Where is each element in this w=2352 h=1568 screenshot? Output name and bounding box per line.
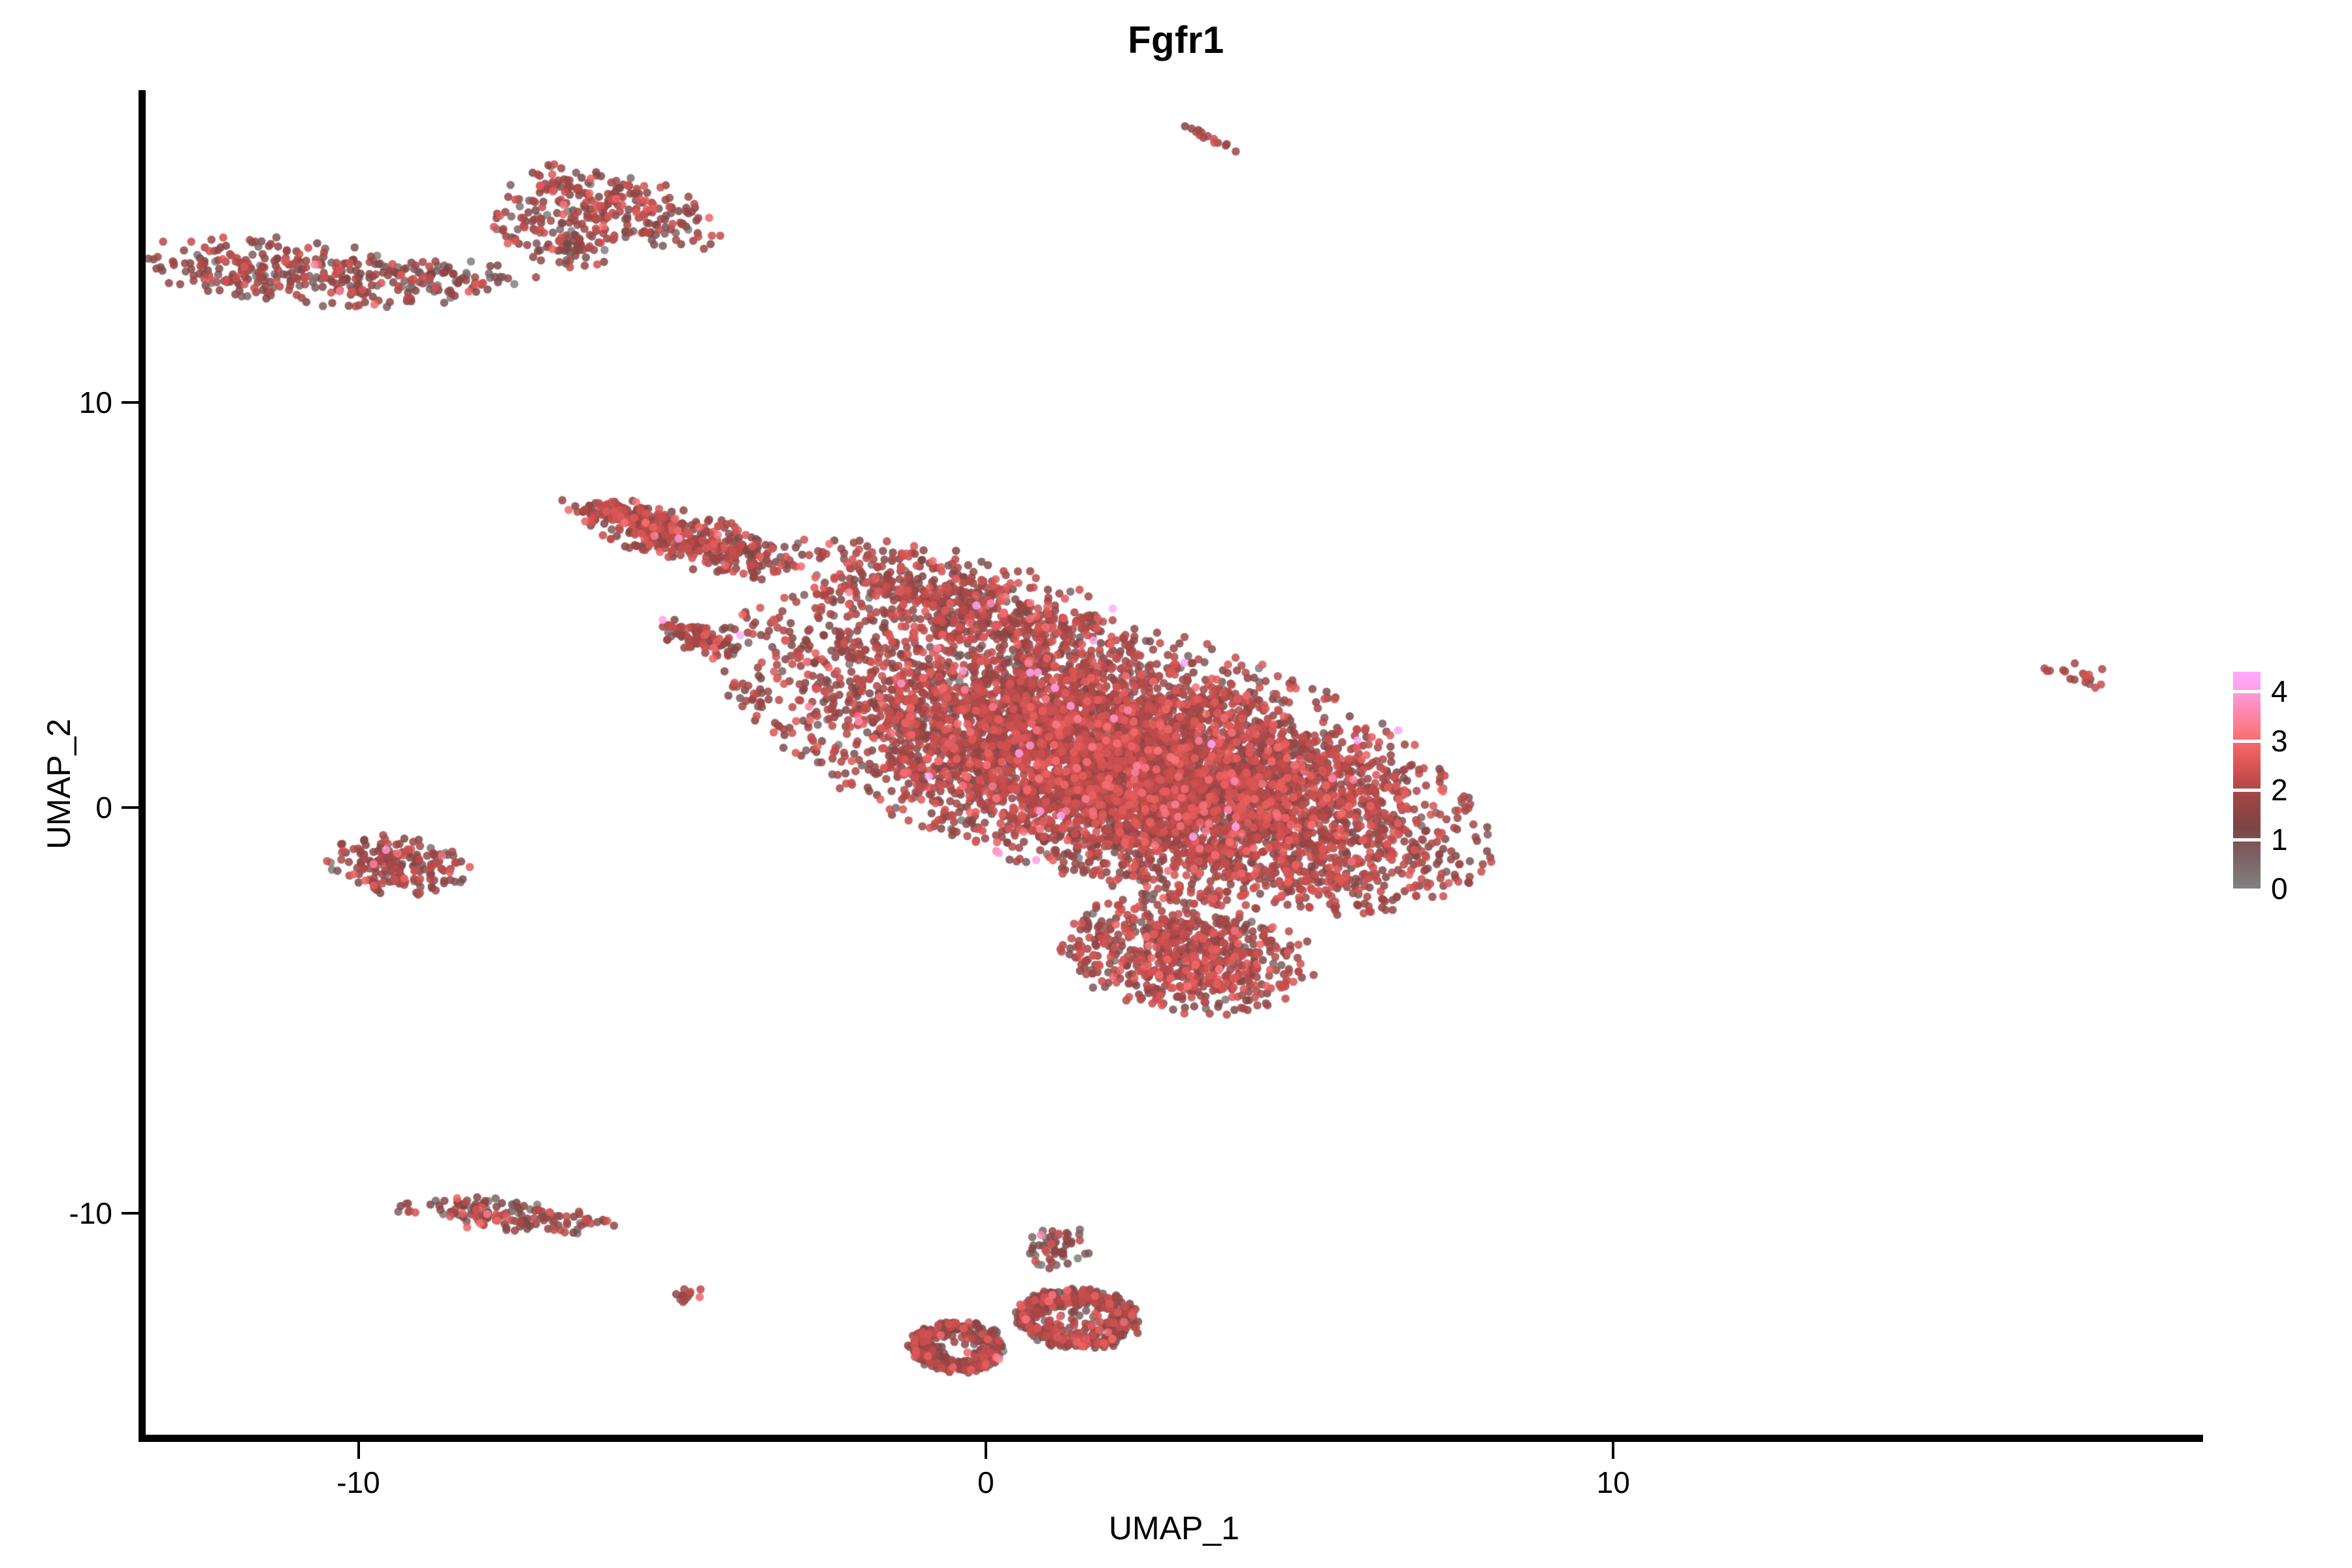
page-title: Fgfr1 [0, 18, 2352, 62]
y-tick-mark [122, 806, 139, 809]
colorbar-tick-label: 1 [2271, 822, 2288, 857]
y-tick-mark [122, 1212, 139, 1215]
x-tick-mark [357, 1442, 360, 1459]
scatter-plot-canvas [145, 90, 2203, 1440]
x-tick-label: 0 [977, 1465, 994, 1500]
x-tick-label: -10 [336, 1465, 380, 1500]
x-axis-line [139, 1435, 2203, 1442]
y-tick-label: -10 [69, 1196, 112, 1231]
y-tick-mark [122, 401, 139, 404]
colorbar-tick-label: 2 [2271, 772, 2288, 808]
x-tick-label: 10 [1597, 1465, 1630, 1500]
colorbar-tick-label: 3 [2271, 723, 2288, 759]
colorbar-tick-label: 4 [2271, 674, 2288, 709]
x-axis-label: UMAP_1 [145, 1509, 2203, 1547]
y-tick-label: 0 [95, 790, 112, 825]
colorbar-tick-mark [2233, 838, 2261, 841]
colorbar-tick-mark [2233, 740, 2261, 743]
y-axis-label: UMAP_2 [40, 653, 78, 915]
y-axis-line [139, 90, 146, 1441]
x-tick-mark [985, 1442, 987, 1459]
feature-plot-figure: Fgfr1 -10010 100-10 UMAP_1 UMAP_2 43210 [0, 0, 2352, 1568]
colorbar-legend: 43210 [2233, 672, 2344, 894]
plot-panel [145, 90, 2203, 1440]
y-tick-label: 10 [79, 385, 112, 420]
colorbar-tick-label: 0 [2271, 871, 2288, 906]
x-tick-mark [1612, 1442, 1614, 1459]
colorbar-tick-mark [2233, 690, 2261, 693]
colorbar-tick-mark [2233, 789, 2261, 792]
colorbar-gradient [2233, 672, 2261, 889]
